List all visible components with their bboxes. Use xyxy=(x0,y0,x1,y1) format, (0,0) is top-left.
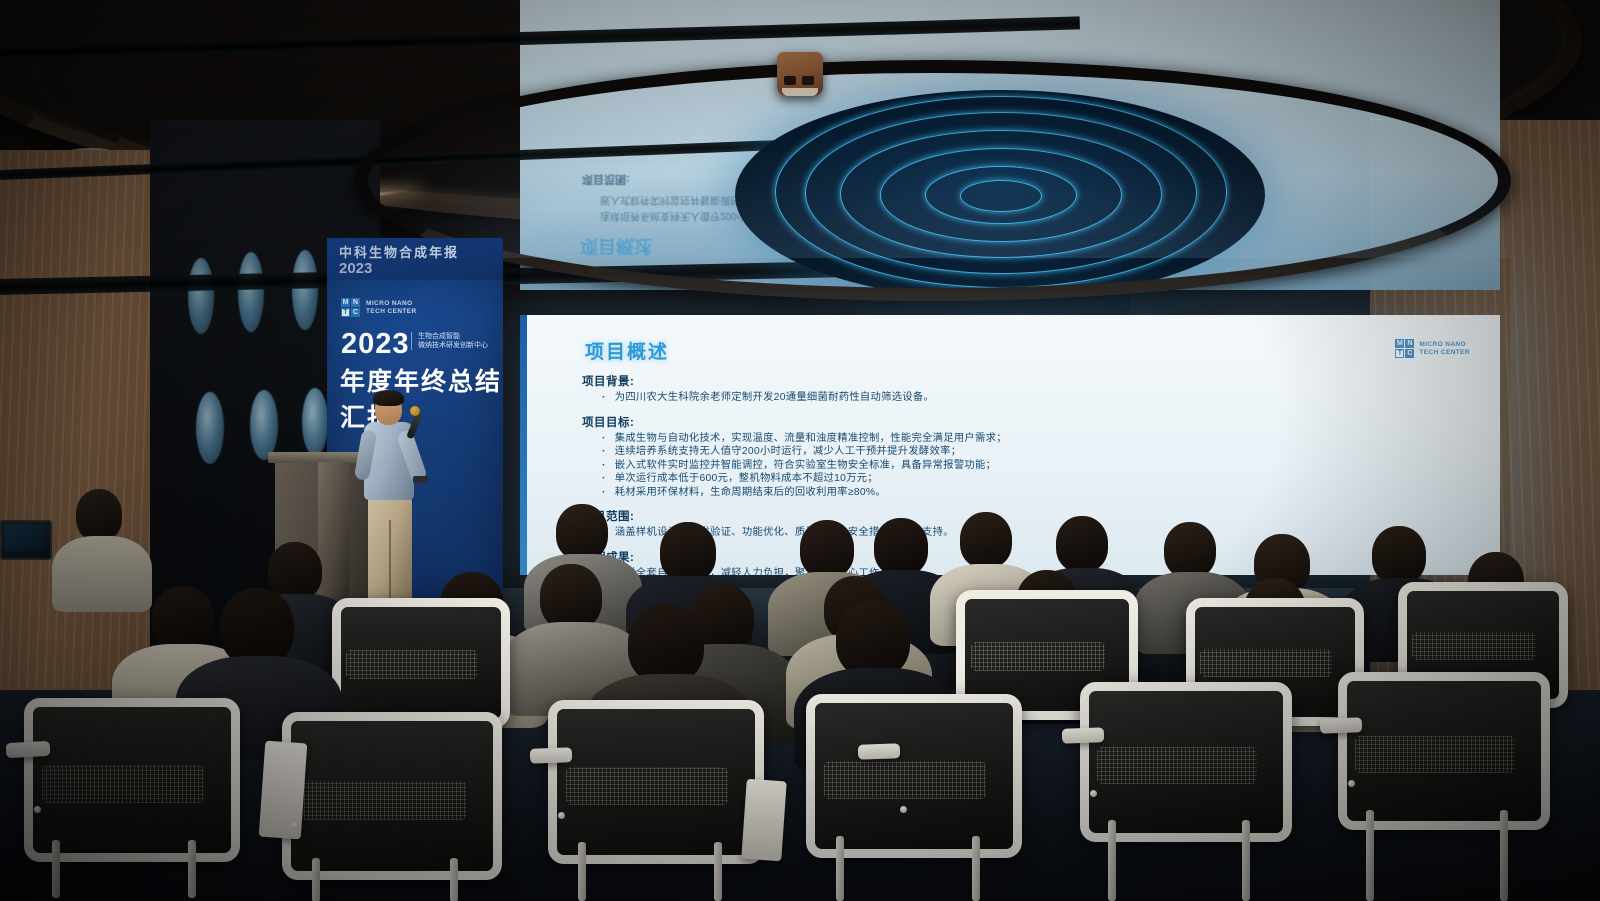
chair-mesh-back xyxy=(566,767,728,805)
chair xyxy=(282,712,484,862)
audience-head xyxy=(1056,516,1108,572)
chair-leg xyxy=(312,858,320,901)
chair-bolt xyxy=(1348,780,1355,787)
chair-leg xyxy=(1366,810,1374,901)
banner-logo-cell-t: T xyxy=(341,308,350,317)
chair xyxy=(24,698,222,844)
auditorium-presentation-photo: 项目概述 连续培养系统支持无人值守200小时运行，减少人工干预并提升发酵效率； … xyxy=(0,0,1600,901)
chair-mesh-back xyxy=(1412,632,1537,660)
chair-mesh-back xyxy=(971,642,1105,671)
chair-bolt xyxy=(1090,790,1097,797)
presenter-hair xyxy=(373,390,404,406)
banner-logo-line2: TECH CENTER xyxy=(366,308,417,316)
audience-head xyxy=(800,520,854,578)
section-bullet: 涵盖样机设计、开发验证、功能优化、质量保证、安全措施及售后支持。 xyxy=(602,526,1470,540)
chair-armrest xyxy=(1320,717,1362,733)
logo-text: MICRO NANO TECH CENTER xyxy=(1419,341,1470,357)
chair xyxy=(1338,672,1532,812)
upper-banner-panel: 中科生物合成年报 2023 xyxy=(327,238,503,282)
banner-logo-line1: MICRO NANO xyxy=(366,300,417,308)
audience-head xyxy=(628,604,704,684)
audience-head xyxy=(1164,522,1216,578)
slide-section: 项目目标: 集成生物与自动化技术，实现温度、流量和浊度精准控制，性能完全满足用户… xyxy=(582,414,1470,500)
chair xyxy=(1080,682,1274,824)
chair-tablet-arm xyxy=(259,741,308,840)
chair-leg xyxy=(578,842,586,901)
oval-display-niche xyxy=(250,390,278,460)
projector-mount xyxy=(782,88,818,96)
ceiling-ring-inner xyxy=(355,60,1511,301)
section-bullet: 为四川农大生科院余老师定制开发20通量细菌耐药性自动筛选设备。 xyxy=(602,391,1470,405)
audience-head xyxy=(874,518,928,576)
oval-display-niche xyxy=(188,258,214,334)
side-monitor xyxy=(0,520,52,560)
logo-cell-m: M xyxy=(1395,339,1404,348)
chair-leg xyxy=(714,842,722,901)
upper-banner-number: 2023 xyxy=(339,260,372,277)
section-heading: 项目背景: xyxy=(582,373,1470,389)
microphone-head xyxy=(410,406,420,416)
audience-head xyxy=(268,542,322,600)
oval-display-niche xyxy=(196,392,224,464)
banner-logo: M N T C MICRO NANO TECH CENTER xyxy=(341,298,417,317)
banner-subtitle-line1: 生物合成智能 xyxy=(418,332,488,341)
slide-section: 项目范围: 涵盖样机设计、开发验证、功能优化、质量保证、安全措施及售后支持。 xyxy=(582,508,1470,540)
chair-leg xyxy=(450,858,458,901)
chair-armrest xyxy=(1062,727,1104,743)
chair-leg xyxy=(52,840,60,898)
presentation-clicker xyxy=(413,476,428,483)
logo-mark-icon: M N T C xyxy=(1395,339,1414,358)
banner-logo-mark-icon: M N T C xyxy=(341,298,360,317)
chair-mesh-back xyxy=(42,765,204,803)
banner-logo-cell-m: M xyxy=(341,298,350,307)
section-heading: 项目目标: xyxy=(582,414,1470,430)
side-monitor-screen xyxy=(5,525,45,551)
chair-armrest xyxy=(858,743,900,759)
chair-leg xyxy=(1242,820,1250,901)
audience-head xyxy=(660,522,716,582)
chair-bolt xyxy=(34,806,41,813)
upper-banner-title: 中科生物合成年报 xyxy=(339,242,459,261)
banner-logo-cell-n: N xyxy=(351,298,360,307)
chair-leg xyxy=(972,836,980,901)
chair-leg xyxy=(1500,810,1508,901)
slide-accent-bar xyxy=(520,315,527,575)
audience-head xyxy=(556,504,608,560)
banner-subtitle: 生物合成智能 微纳技术研发创新中心 xyxy=(411,332,488,350)
slide-title: 项目概述 xyxy=(585,337,669,364)
banner-subtitle-line2: 微纳技术研发创新中心 xyxy=(418,341,488,350)
banner-logo-text: MICRO NANO TECH CENTER xyxy=(366,300,417,316)
chair-leg xyxy=(188,840,196,898)
logo-cell-c: C xyxy=(1405,349,1414,358)
oval-display-niche xyxy=(238,252,264,332)
audience-shoulders xyxy=(52,536,152,612)
stage-pillar xyxy=(318,462,349,612)
chair-mesh-back xyxy=(1200,649,1331,678)
logo-cell-n: N xyxy=(1405,339,1414,348)
section-bullet: 单次运行成本低于600元，整机物料成本不超过10万元； xyxy=(602,472,1470,486)
banner-main-title: 年度年终总结汇报 xyxy=(340,362,503,434)
chair-mesh-back xyxy=(1097,747,1256,784)
chair-leg xyxy=(836,836,844,901)
audience-head xyxy=(152,586,214,652)
section-bullet: 连续培养系统支持无人值守200小时运行，减少人工干预并提升发酵效率； xyxy=(602,445,1470,459)
presenter-leg-separation xyxy=(389,520,391,604)
chair-bolt xyxy=(558,812,565,819)
banner-logo-cell-c: C xyxy=(351,308,360,317)
section-bullet: 集成生物与自动化技术，实现温度、流量和浊度精准控制，性能完全满足用户需求； xyxy=(602,432,1470,446)
audience-head xyxy=(220,588,294,666)
slide-section: 项目背景: 为四川农大生科院余老师定制开发20通量细菌耐药性自动筛选设备。 xyxy=(582,373,1470,405)
chair-bolt xyxy=(900,806,907,813)
chair-tablet-arm xyxy=(741,779,786,862)
audience-head xyxy=(836,600,910,678)
banner-year: 2023 xyxy=(341,328,410,361)
section-bullet: 耗材采用环保材料，生命周期结束后的回收利用率≥80%。 xyxy=(602,486,1470,500)
logo-cell-t: T xyxy=(1395,349,1404,358)
audience-head xyxy=(960,512,1012,568)
logo-text-line1: MICRO NANO xyxy=(1419,341,1470,349)
section-bullet: 嵌入式软件实时监控并智能调控，符合实验室生物安全标准，具备异常报警功能； xyxy=(602,459,1470,473)
chair-armrest xyxy=(6,741,51,758)
chair-mesh-back xyxy=(1355,736,1514,772)
oval-display-niche xyxy=(292,250,318,330)
micro-nano-logo: M N T C MICRO NANO TECH CENTER xyxy=(1395,339,1470,358)
audience-head xyxy=(76,489,122,541)
chair-leg xyxy=(1108,820,1116,901)
chair xyxy=(806,694,1004,840)
audience-head xyxy=(1372,526,1426,584)
chair-armrest xyxy=(530,747,572,763)
chair-mesh-back xyxy=(346,650,477,679)
chair-mesh-back xyxy=(300,781,466,820)
logo-text-line2: TECH CENTER xyxy=(1419,349,1470,357)
audience-head xyxy=(540,564,602,630)
oval-display-niche xyxy=(302,388,328,456)
section-heading: 项目范围: xyxy=(582,508,1470,524)
chair xyxy=(332,598,492,710)
chair-mesh-back xyxy=(824,761,986,799)
chair xyxy=(548,700,746,846)
chair-bolt xyxy=(292,822,299,829)
